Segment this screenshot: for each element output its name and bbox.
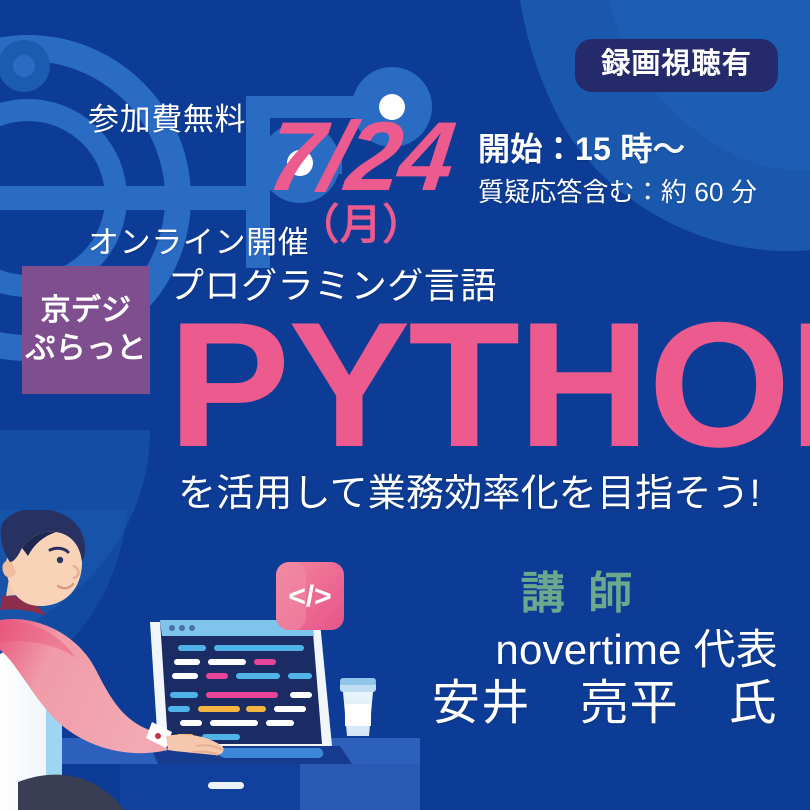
- headline: プログラミング言語 PYTHON を活用して業務効率化を目指そう!: [168, 268, 780, 513]
- event-duration: 質疑応答含む：約 60 分: [478, 177, 757, 208]
- event-time: 開始：15 時〜 質疑応答含む：約 60 分: [478, 131, 757, 208]
- code-badge: </>: [276, 562, 344, 630]
- organizer-logo-line2: ぷらっと: [25, 332, 146, 366]
- seminar-poster: 参加費無料 オンライン開催 録画視聴有 7/24 （月） 開始：15 時〜 質疑…: [0, 0, 810, 810]
- organizer-logo-line1: 京デジ: [41, 294, 132, 328]
- speaker-name: 安井 亮平 氏: [378, 677, 778, 731]
- coding-person-illustration: </>: [0, 510, 420, 810]
- recorded-viewing-badge: 録画視聴有: [575, 39, 778, 92]
- speaker-block: 講 師 novertime 代表 安井 亮平 氏: [378, 572, 778, 731]
- event-date: 7/24 （月）: [236, 114, 486, 246]
- event-date-value: 7/24: [231, 114, 491, 198]
- event-start-time: 開始：15 時〜: [478, 131, 757, 168]
- speaker-organization: novertime 代表: [378, 626, 778, 673]
- organizer-logo: 京デジ ぷらっと: [22, 266, 150, 394]
- code-badge-glyph: </>: [288, 580, 331, 613]
- headline-title: PYTHON: [168, 308, 798, 461]
- coffee-cup: [340, 678, 376, 736]
- monitor: [150, 620, 332, 746]
